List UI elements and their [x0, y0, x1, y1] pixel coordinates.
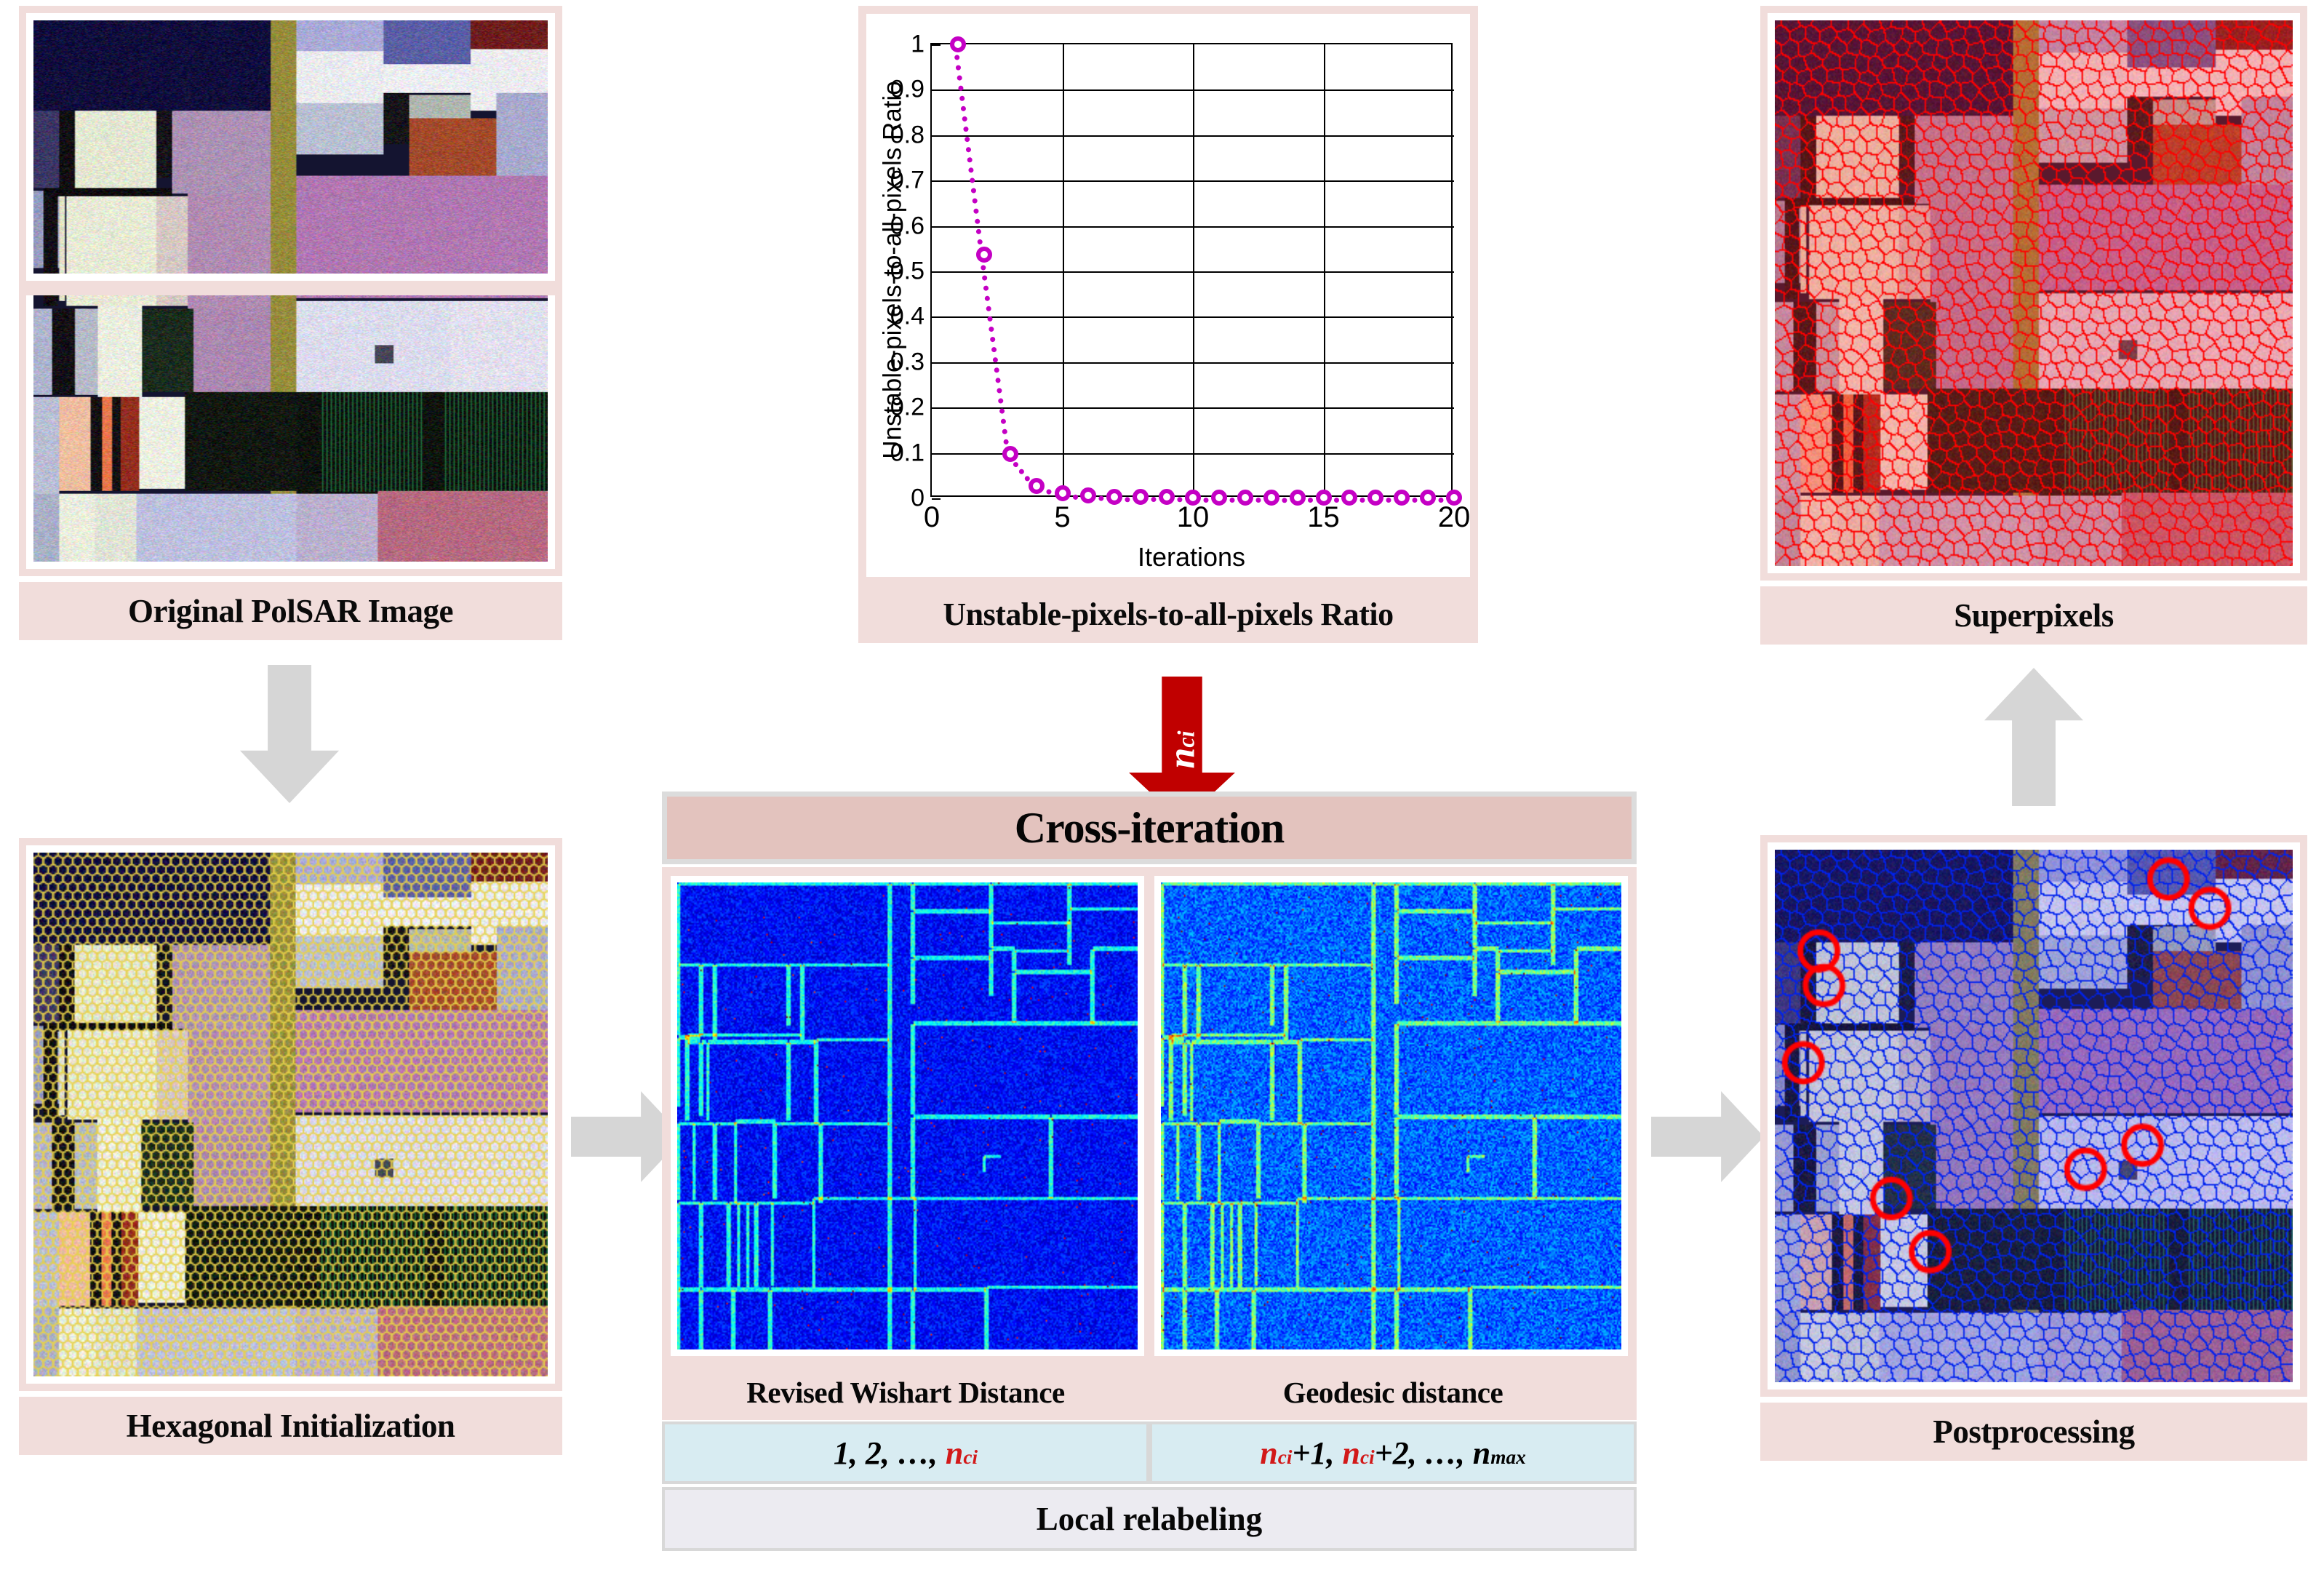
- chart-gridline-v: [1063, 44, 1064, 498]
- chart-data-point: [1290, 490, 1306, 506]
- panel-superpixels: [1760, 6, 2307, 581]
- caption-ratio-chart-text: Unstable-pixels-to-all-pixels Ratio: [943, 596, 1393, 633]
- chart-y-tick: [932, 316, 941, 318]
- chart-data-point: [1029, 478, 1045, 494]
- seq-r1-symbol: n: [1260, 1435, 1277, 1471]
- chart-data-point: [1420, 490, 1436, 506]
- chart-x-tick-label: 15: [1307, 501, 1340, 534]
- arrow-nci-label: nci: [1161, 730, 1204, 768]
- original-polsar-image: [33, 20, 548, 274]
- chart-y-tick: [932, 180, 941, 182]
- chart-data-point: [1211, 490, 1227, 506]
- sequence-wishart-cell: 1, 2, …, nci: [665, 1424, 1146, 1481]
- panel-postprocessing: [1760, 835, 2307, 1397]
- local-relabeling-text: Local relabeling: [1037, 1500, 1262, 1538]
- chart-x-tick-label: 0: [924, 501, 940, 534]
- seq-left-sub: ci: [963, 1446, 978, 1468]
- chart-data-point: [1185, 490, 1201, 506]
- chart-line-segment: [979, 255, 1010, 455]
- original-polsar-image-lower: [33, 295, 548, 562]
- caption-superpixels-text: Superpixels: [1954, 597, 2114, 634]
- caption-original-polsar: Original PolSAR Image: [19, 582, 562, 640]
- caption-postprocessing: Postprocessing: [1760, 1403, 2307, 1461]
- sequence-wishart-text: 1, 2, …, nci: [834, 1435, 978, 1472]
- chart-y-tick: [932, 226, 941, 228]
- chart-y-tick-label: 0: [911, 485, 925, 513]
- local-relabeling-cell: Local relabeling: [665, 1490, 1634, 1548]
- caption-hexagonal-text: Hexagonal Initialization: [127, 1407, 455, 1445]
- original-image-frame-lower: [26, 295, 555, 569]
- chart-data-point: [1341, 490, 1357, 506]
- chart-x-tick-label: 5: [1054, 501, 1070, 534]
- chart-line-segment: [953, 44, 984, 255]
- arrow-nci-subscript: ci: [1173, 730, 1199, 747]
- chart-data-point: [1133, 489, 1149, 505]
- caption-ratio-chart: Unstable-pixels-to-all-pixels Ratio: [858, 585, 1478, 643]
- chart-data-point: [1159, 489, 1175, 505]
- cross-iteration-header: Cross-iteration: [662, 791, 1637, 864]
- chart-data-point: [1002, 446, 1018, 462]
- seq-r2-symbol: n: [1343, 1435, 1360, 1471]
- caption-hexagonal-initialization: Hexagonal Initialization: [19, 1397, 562, 1455]
- postprocessing-image-frame: [1768, 842, 2300, 1389]
- chart-data-point: [1263, 490, 1279, 506]
- cross-iteration-block: Cross-iteration Revised Wishart Distance…: [662, 791, 1637, 1519]
- geodesic-distance-image: [1161, 882, 1621, 1349]
- seq-r2-sub: ci: [1360, 1446, 1375, 1468]
- caption-revised-wishart-text: Revised Wishart Distance: [746, 1375, 1064, 1410]
- chart-plot-area: 00.10.20.30.40.50.60.70.80.9105101520: [930, 43, 1453, 497]
- chart-y-tick: [932, 362, 941, 364]
- panel-hexagonal-initialization: [19, 838, 562, 1391]
- superpixels-image: [1775, 20, 2293, 566]
- chart-data-point: [1237, 490, 1253, 506]
- chart-data-point: [1316, 490, 1332, 506]
- chart-x-tick-label: 10: [1177, 501, 1210, 534]
- caption-revised-wishart-distance: Revised Wishart Distance: [662, 1365, 1149, 1420]
- seq-rlast-symbol: n: [1473, 1435, 1490, 1471]
- cross-iteration-footer-row: Local relabeling: [662, 1487, 1637, 1551]
- chart-y-tick-label: 1: [911, 31, 925, 59]
- cross-iteration-sequence-row: 1, 2, …, nci nci+1, nci+2, …, nmax: [662, 1421, 1637, 1484]
- postprocessing-image: [1775, 850, 2293, 1382]
- panel-original-polsar-lower: [19, 288, 562, 576]
- chart-gridline-v: [1193, 44, 1194, 498]
- chart-data-point: [976, 247, 992, 263]
- chart-x-axis-label: Iterations: [930, 542, 1453, 573]
- caption-geodesic-text: Geodesic distance: [1283, 1375, 1503, 1410]
- cross-iteration-title: Cross-iteration: [1015, 803, 1285, 853]
- geodesic-distance-image-frame: [1154, 876, 1628, 1356]
- seq-left-prefix: 1, 2, …,: [834, 1435, 946, 1471]
- chart-gridline-v: [1324, 44, 1325, 498]
- chart-y-tick: [932, 44, 941, 46]
- seq-r1-tail: +1,: [1292, 1435, 1342, 1471]
- chart-y-axis-label: Unstable-pixels-to-all-pixels Ratio: [878, 81, 907, 458]
- seq-left-symbol: n: [946, 1435, 963, 1471]
- sequence-geodesic-text: nci+1, nci+2, …, nmax: [1260, 1435, 1525, 1472]
- chart-y-tick: [932, 498, 941, 500]
- superpixels-image-frame: [1768, 13, 2300, 573]
- cross-iteration-distance-images: [662, 867, 1637, 1365]
- chart-data-point: [1106, 489, 1122, 505]
- arrow-postprocessing-to-superpixels: [1984, 668, 2083, 806]
- arrow-original-to-hexagonal: [240, 665, 339, 803]
- revised-wishart-distance-image: [677, 882, 1138, 1349]
- chart-data-point: [1080, 487, 1096, 503]
- chart-data-point: [1367, 490, 1383, 506]
- chart-y-tick: [932, 271, 941, 273]
- sequence-geodesic-cell: nci+1, nci+2, …, nmax: [1152, 1424, 1634, 1481]
- original-image-frame: [26, 13, 555, 281]
- chart-y-tick: [932, 135, 941, 137]
- caption-postprocessing-text: Postprocessing: [1933, 1413, 2134, 1451]
- seq-rlast-sub: max: [1490, 1446, 1525, 1468]
- chart-y-tick: [932, 89, 941, 91]
- chart-data-point: [1394, 490, 1410, 506]
- caption-original-text: Original PolSAR Image: [128, 592, 453, 630]
- panel-original-polsar: [19, 6, 562, 288]
- chart-y-tick: [932, 407, 941, 409]
- arrow-nci-symbol: n: [1162, 747, 1203, 768]
- chart-data-point: [1446, 490, 1462, 506]
- chart-x-tick-label: 20: [1438, 501, 1471, 534]
- chart-data-point: [950, 36, 966, 52]
- seq-r2-tail: +2, …,: [1375, 1435, 1473, 1471]
- panel-ratio-chart: 00.10.20.30.40.50.60.70.80.9105101520 Un…: [858, 6, 1478, 585]
- hexagonal-initialization-image: [33, 853, 548, 1376]
- chart-y-tick: [932, 453, 941, 455]
- caption-geodesic-distance: Geodesic distance: [1149, 1365, 1637, 1420]
- caption-superpixels: Superpixels: [1760, 586, 2307, 645]
- chart-canvas-area: 00.10.20.30.40.50.60.70.80.9105101520 Un…: [866, 14, 1470, 577]
- cross-iteration-caption-row: Revised Wishart Distance Geodesic distan…: [662, 1365, 1637, 1420]
- wishart-distance-image-frame: [671, 876, 1144, 1356]
- chart-data-point: [1055, 485, 1071, 501]
- arrow-crossiteration-to-postprocessing: [1651, 1091, 1764, 1182]
- hexagonal-image-frame: [26, 845, 555, 1384]
- seq-r1-sub: ci: [1278, 1446, 1293, 1468]
